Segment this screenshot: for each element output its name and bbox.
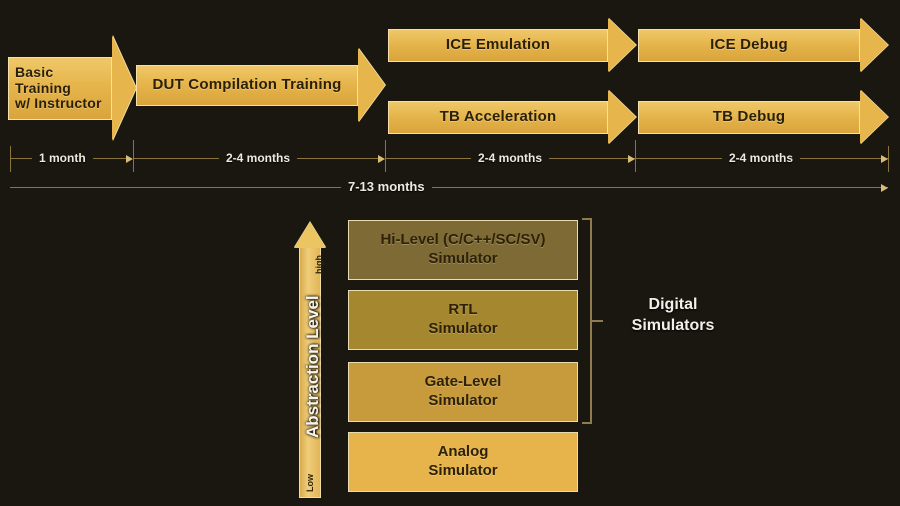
flow-arrow-tb-debug-label: TB Debug [707,109,791,126]
flow-arrow-dut-compilation-label: DUT Compilation Training [147,77,348,94]
timeline-seg-2-arrowhead [378,155,385,163]
sim-box-rtl[interactable]: RTL Simulator [348,290,578,350]
timeline-total-line [10,187,888,188]
sim-box-line1: Hi-Level (C/C++/SC/SV) [380,231,545,250]
timeline-seg-1-label: 1 month [32,151,93,165]
sim-box-gate-level[interactable]: Gate-Level Simulator [348,362,578,422]
sim-box-hi-level[interactable]: Hi-Level (C/C++/SC/SV) Simulator [348,220,578,280]
flow-label-line1: Basic Training [15,65,105,96]
sim-box-analog[interactable]: Analog Simulator [348,432,578,492]
timeline-seg-3-arrowhead [628,155,635,163]
digital-label-line1: Digital [608,295,738,316]
flow-arrow-dut-compilation-head [358,48,385,122]
flow-arrow-ice-emulation-head [608,18,636,72]
flow-arrow-tb-acceleration[interactable]: TB Acceleration [388,101,608,134]
timeline-seg-1-arrowhead [126,155,133,163]
flow-label-line1: TB Acceleration [440,109,557,126]
sim-box-line2: Simulator [428,462,497,481]
timeline-seg-3-label: 2-4 months [471,151,549,165]
abstraction-axis-low-label: Low [305,474,315,492]
flow-arrow-ice-debug[interactable]: ICE Debug [638,29,860,62]
sim-box-line2: Simulator [380,250,545,269]
timeline-total-label: 7-13 months [341,180,432,194]
digital-bracket-bottom-arm [582,422,592,424]
flow-label-line1: DUT Compilation Training [153,77,342,94]
abstraction-axis-title: Abstraction Level [303,295,323,438]
flow-label-line1: ICE Emulation [446,37,550,54]
timeline-tick-4 [888,146,889,172]
sim-box-gate-level-label: Gate-Level Simulator [425,373,502,411]
timeline-seg-4-arrowhead [881,155,888,163]
flow-arrow-tb-acceleration-label: TB Acceleration [434,109,563,126]
flow-arrow-tb-acceleration-head [608,90,636,144]
timeline-tick-3 [635,140,636,172]
flow-arrow-ice-emulation-label: ICE Emulation [440,37,556,54]
sim-box-line2: Simulator [428,320,497,339]
timeline-tick-0 [10,146,11,172]
flow-arrow-basic-training-head [112,35,136,141]
digital-bracket-stem [592,320,603,322]
flow-arrow-ice-emulation[interactable]: ICE Emulation [388,29,608,62]
flow-arrow-basic-training-label: Basic Training w/ Instructor [9,65,111,112]
flow-arrow-tb-debug-head [860,90,888,144]
flow-arrow-tb-debug[interactable]: TB Debug [638,101,860,134]
digital-bracket-top-arm [582,218,592,220]
sim-box-line1: Analog [428,443,497,462]
flow-label-line1: ICE Debug [710,37,788,54]
timeline-seg-2-label: 2-4 months [219,151,297,165]
flow-arrow-dut-compilation[interactable]: DUT Compilation Training [136,65,358,106]
flow-label-line1: TB Debug [713,109,785,126]
sim-box-rtl-label: RTL Simulator [428,301,497,339]
flow-arrow-ice-debug-head [860,18,888,72]
abstraction-axis-high-label: high [314,255,324,274]
digital-simulators-label: Digital Simulators [608,295,738,337]
sim-box-line1: Gate-Level [425,373,502,392]
sim-box-line1: RTL [428,301,497,320]
digital-label-line2: Simulators [608,316,738,337]
timeline-seg-4-label: 2-4 months [722,151,800,165]
timeline-tick-2 [385,140,386,172]
timeline-total-arrowhead [881,184,888,192]
flow-label-line2: w/ Instructor [15,96,105,112]
abstraction-axis-arrowhead [294,222,326,248]
sim-box-line2: Simulator [425,392,502,411]
diagram-canvas: Basic Training w/ Instructor DUT Compila… [0,0,900,506]
flow-arrow-ice-debug-label: ICE Debug [704,37,794,54]
sim-box-analog-label: Analog Simulator [428,443,497,481]
flow-arrow-basic-training[interactable]: Basic Training w/ Instructor [8,57,112,120]
timeline-tick-1 [133,140,134,172]
sim-box-hi-level-label: Hi-Level (C/C++/SC/SV) Simulator [380,231,545,269]
